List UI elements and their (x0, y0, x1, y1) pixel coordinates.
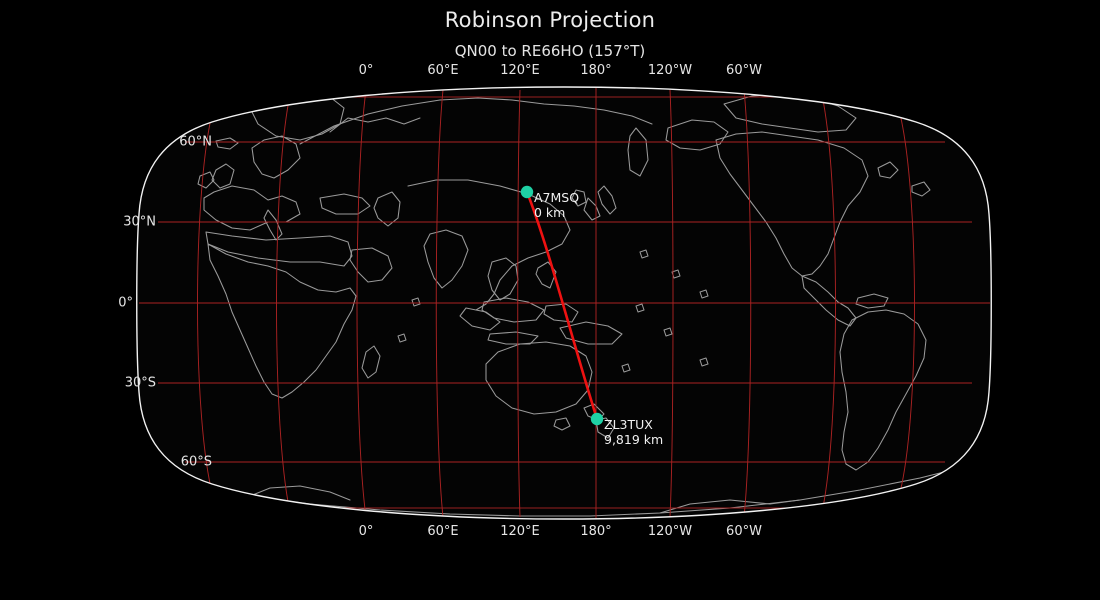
map-svg (0, 0, 1100, 600)
lon-tick-bottom-60w: 60°W (726, 524, 762, 539)
lon-tick-top-60w: 60°W (726, 63, 762, 78)
marker-start-a7msq[interactable] (521, 186, 533, 198)
lon-tick-bottom-120e: 120°E (500, 524, 540, 539)
map-body (130, 80, 1000, 530)
marker-end-distance: 9,819 km (604, 432, 663, 447)
marker-end-callsign: ZL3TUX (604, 417, 653, 432)
lon-tick-bottom-0: 0° (359, 524, 374, 539)
lat-tick-60s: 60°S (181, 455, 212, 470)
marker-label-start: A7MSQ 0 km (534, 190, 579, 220)
lon-tick-bottom-180: 180° (580, 524, 611, 539)
lon-tick-top-0: 0° (359, 63, 374, 78)
lon-tick-bottom-120w: 120°W (648, 524, 692, 539)
marker-start-callsign: A7MSQ (534, 190, 579, 205)
marker-start-distance: 0 km (534, 205, 579, 220)
lat-tick-60n: 60°N (179, 135, 212, 150)
map-figure: Robinson Projection QN00 to RE66HO (157°… (0, 0, 1100, 600)
lat-tick-30s: 30°S (125, 376, 156, 391)
lon-tick-top-120w: 120°W (648, 63, 692, 78)
lon-tick-top-120e: 120°E (500, 63, 540, 78)
marker-label-end: ZL3TUX 9,819 km (604, 417, 663, 447)
lat-tick-30n: 30°N (123, 215, 156, 230)
ocean-fill (130, 80, 1000, 530)
marker-end-zl3tux[interactable] (591, 413, 603, 425)
robinson-map-canvas[interactable]: 0° 60°E 120°E 180° 120°W 60°W 0° 60°E 12… (0, 0, 1100, 600)
lon-tick-top-60e: 60°E (427, 63, 458, 78)
lon-tick-bottom-60e: 60°E (427, 524, 458, 539)
lon-tick-top-180: 180° (580, 63, 611, 78)
lat-tick-0: 0° (118, 296, 133, 311)
